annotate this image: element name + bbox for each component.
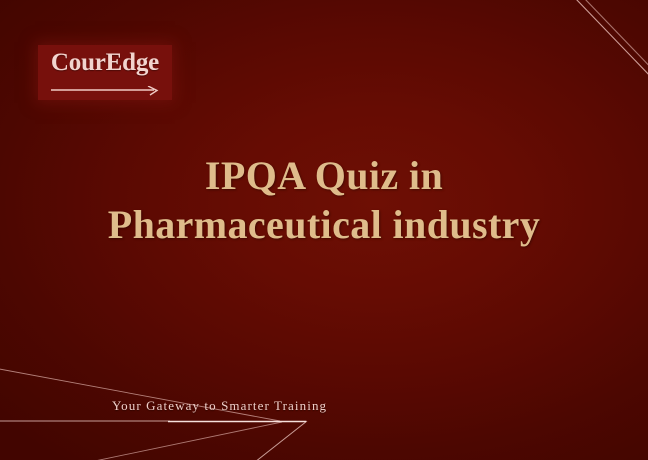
brand-logo-text: CourEdge bbox=[38, 49, 172, 77]
top-right-diagonals-icon bbox=[575, 0, 648, 78]
slide-tagline: Your Gateway to Smarter Training bbox=[112, 398, 327, 414]
slide-title-line-2: Pharmaceutical industry bbox=[0, 201, 648, 250]
brand-logo[interactable]: CourEdge bbox=[38, 45, 172, 100]
arrow-underline-icon bbox=[51, 86, 159, 96]
presentation-slide: CourEdge IPQA Quiz in Pharmaceutical ind… bbox=[0, 0, 648, 460]
bottom-left-chevron-icon bbox=[0, 368, 307, 460]
slide-title: IPQA Quiz in Pharmaceutical industry bbox=[0, 152, 648, 250]
slide-title-line-1: IPQA Quiz in bbox=[0, 152, 648, 201]
